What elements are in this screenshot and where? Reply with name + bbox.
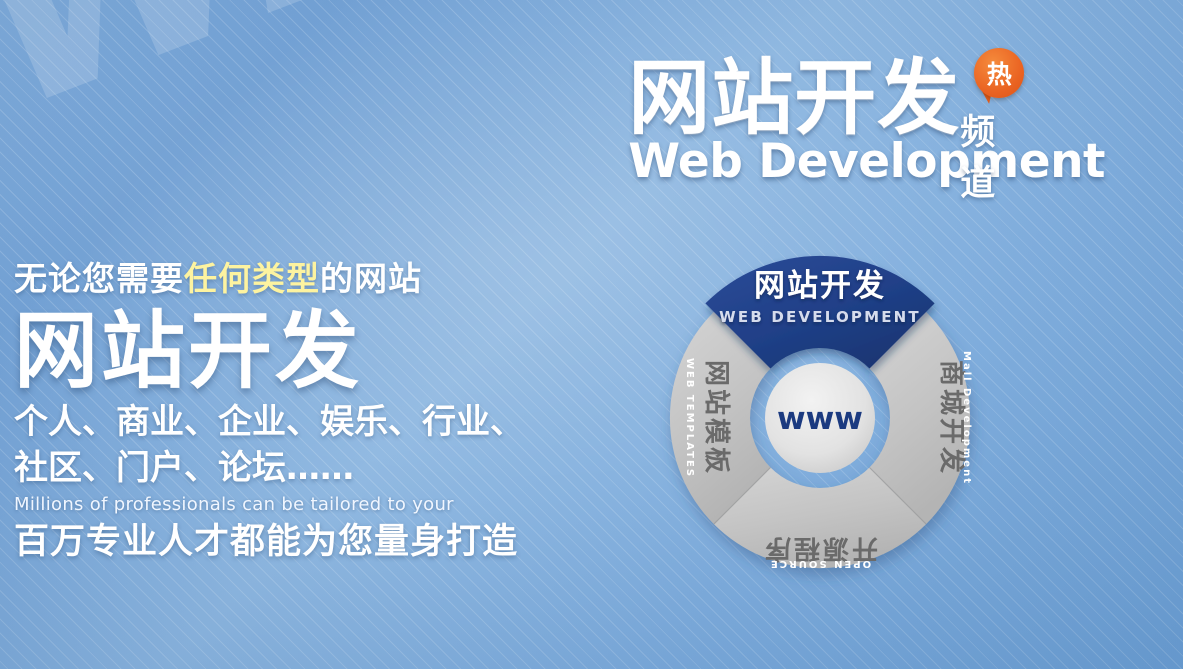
header-title-cn: 网站开发 (628, 58, 960, 140)
copy-line1-b: 的网站 (320, 259, 422, 298)
hub-www-label: www (777, 401, 863, 437)
copy-list-line-1: 个人、商业、企业、娱乐、行业、 (14, 402, 574, 442)
copy-list-line-2: 社区、门户、论坛…… (14, 448, 574, 488)
copy-block: 无论您需要任何类型的网站 网站开发 个人、商业、企业、娱乐、行业、 社区、门户、… (14, 252, 574, 563)
copy-english-line: Millions of professionals can be tailore… (14, 494, 574, 515)
hot-badge-wrapper: 热 频道 (960, 52, 1032, 140)
copy-line1: 无论您需要任何类型的网站 (14, 252, 574, 300)
copy-bottom-line: 百万专业人才都能为您量身打造 (14, 521, 574, 563)
header-title-en: Web Development (628, 134, 1105, 189)
donut-svg: www 网站开发 WEB DEVELOPMENT 商城开发 Mall Devel… (620, 218, 1020, 618)
banner-stage: W.W.W 网站开发 热 频道 Web Development 无论您需要任何类… (0, 0, 1183, 669)
copy-line1-a: 无论您需要 (14, 259, 184, 298)
hot-badge: 热 (974, 48, 1024, 98)
donut-diagram: www 网站开发 WEB DEVELOPMENT 商城开发 Mall Devel… (620, 218, 1020, 618)
copy-line1-highlight: 任何类型 (184, 259, 320, 298)
header-title-row: 网站开发 热 频道 (628, 52, 1105, 140)
header-channel-label: 频道 (960, 104, 1032, 206)
header-block: 网站开发 热 频道 Web Development (628, 52, 1105, 189)
copy-headline: 网站开发 (14, 306, 574, 396)
